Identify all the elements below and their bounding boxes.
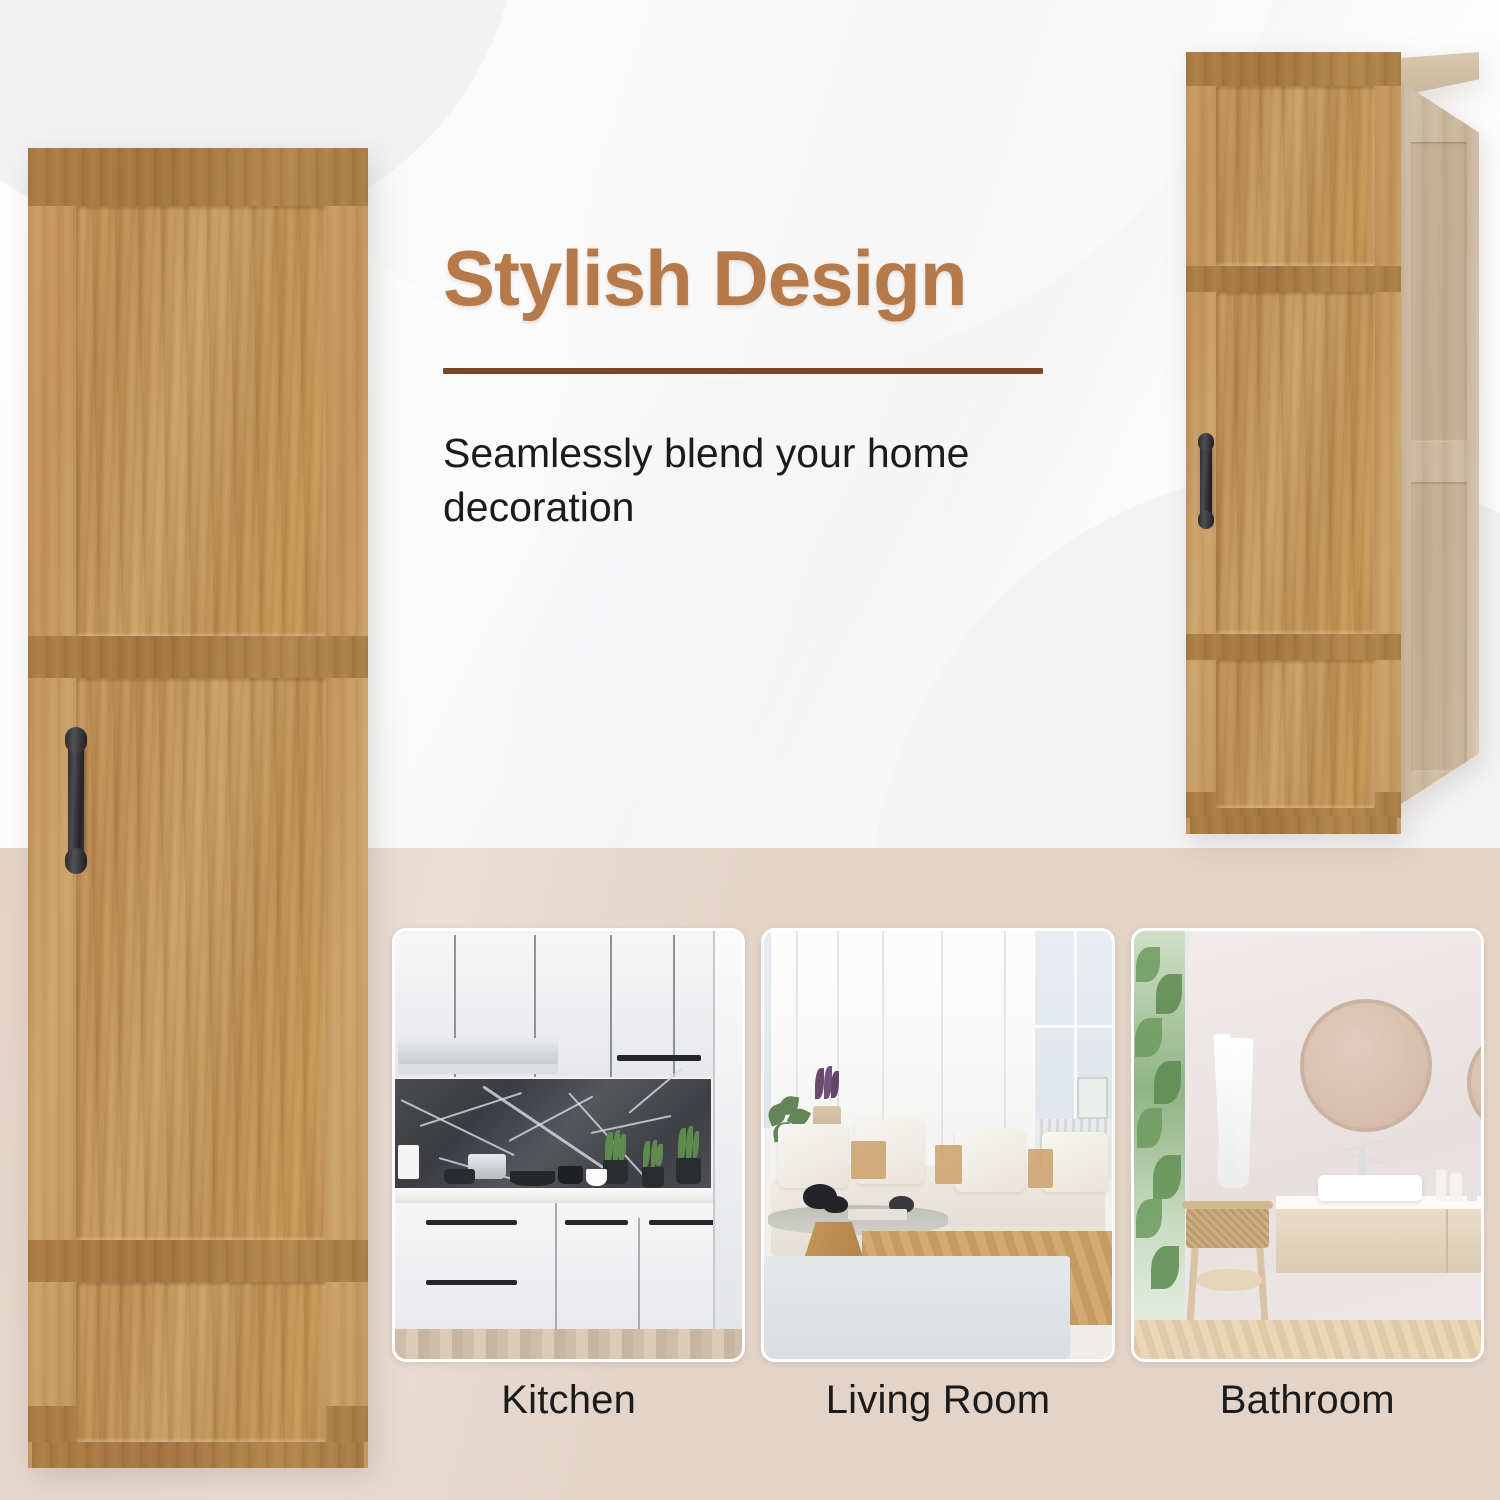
product-cabinet-angled (1186, 36, 1486, 848)
scene-captions: Kitchen Living Room Bathroom (392, 1378, 1484, 1442)
caption-kitchen: Kitchen (392, 1378, 745, 1442)
caption-bathroom: Bathroom (1131, 1378, 1484, 1442)
cabinet-side-inset-bottom (1411, 482, 1467, 772)
product-cabinet-front (28, 148, 368, 1468)
cabinet-r-panel-bottom (1216, 660, 1375, 808)
cabinet-panel-bottom (76, 1282, 326, 1442)
scene-card-living-room[interactable] (761, 928, 1114, 1362)
caption-living-room: Living Room (761, 1378, 1114, 1442)
scene-card-kitchen[interactable] (392, 928, 745, 1362)
cabinet-rail-top (28, 148, 368, 206)
cabinet-r-plinth (1190, 816, 1397, 834)
cabinet-rail-mid-1 (28, 636, 368, 678)
cabinet-r-panel-middle (1216, 292, 1375, 634)
cabinet-side-panel (1401, 82, 1479, 804)
poster-stage: Stylish Design Seamlessly blend your hom… (0, 0, 1500, 1500)
page-subtitle: Seamlessly blend your home decoration (443, 426, 1073, 534)
bathroom-photo (1134, 931, 1481, 1359)
scene-card-bathroom[interactable] (1131, 928, 1484, 1362)
scene-gallery (392, 928, 1484, 1362)
living-room-photo (764, 931, 1111, 1359)
copy-block: Stylish Design Seamlessly blend your hom… (443, 238, 1083, 534)
cabinet-side-inset-top (1411, 142, 1467, 442)
cabinet-front-face (1186, 52, 1401, 834)
cabinet-panel-middle (76, 678, 326, 1240)
cabinet-handle-icon[interactable] (68, 733, 84, 868)
cabinet-r-stile-right (1375, 52, 1401, 834)
cabinet-r-panel-top (1216, 86, 1375, 266)
title-divider (443, 368, 1043, 374)
page-title: Stylish Design (443, 238, 1083, 320)
cabinet-handle-right-icon[interactable] (1200, 437, 1212, 525)
kitchen-photo (395, 931, 742, 1359)
cabinet-panel-top (76, 206, 326, 636)
cabinet-r-rail-2 (1186, 634, 1401, 660)
cabinet-r-rail-1 (1186, 266, 1401, 292)
cabinet-rail-mid-2 (28, 1240, 368, 1282)
cabinet-r-rail-top (1186, 52, 1401, 86)
cabinet-plinth (32, 1442, 364, 1468)
